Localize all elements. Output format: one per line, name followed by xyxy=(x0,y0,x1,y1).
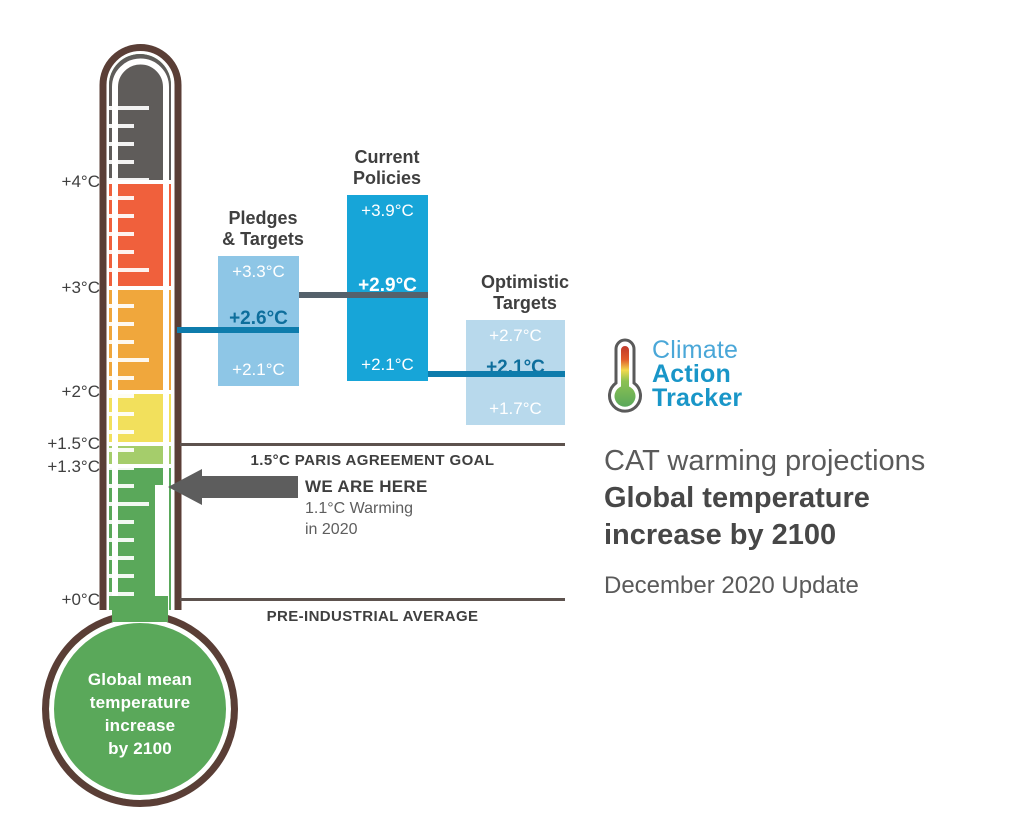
paris-goal-label: 1.5°C PARIS AGREEMENT GOAL xyxy=(180,452,565,469)
median-line-current-policies xyxy=(299,292,428,298)
axis-label-1-5: +1.5°C xyxy=(14,434,100,454)
bar-title-optimistic-line-2: Targets xyxy=(455,293,595,314)
title-line-2: increase by 2100 xyxy=(604,517,1004,554)
we-are-here-arrow-icon xyxy=(168,469,298,505)
pledges-high-label: +3.3°C xyxy=(218,262,299,282)
axis-label-4: +4°C xyxy=(14,172,100,192)
range-bar-current-policies[interactable]: +3.9°C +2.9°C +2.1°C xyxy=(347,195,428,381)
median-line-optimistic xyxy=(428,371,565,377)
pre-industrial-label: PRE-INDUSTRIAL AVERAGE xyxy=(180,608,565,625)
temperature-axis: +4°C +3°C +2°C +1.5°C +1.3°C +0°C xyxy=(0,0,100,838)
optimistic-low-label: +1.7°C xyxy=(466,399,565,419)
cat-logo[interactable]: Climate Action Tracker xyxy=(604,336,764,416)
current-policies-low-label: +2.1°C xyxy=(347,355,428,375)
title-block: CAT warming projections Global temperatu… xyxy=(604,443,1004,600)
bar-title-pledges: Pledges & Targets xyxy=(198,208,328,250)
we-are-here-sub-line-2: in 2020 xyxy=(305,519,413,540)
we-are-here-sub-line-1: 1.1°C Warming xyxy=(305,498,413,519)
bar-title-optimistic-line-1: Optimistic xyxy=(455,272,595,293)
bar-title-pledges-line-2: & Targets xyxy=(198,229,328,250)
bar-title-current-policies: Current Policies xyxy=(322,147,452,189)
we-are-here-subtitle: 1.1°C Warming in 2020 xyxy=(305,498,413,540)
bar-title-optimistic: Optimistic Targets xyxy=(455,272,595,314)
bar-title-pledges-line-1: Pledges xyxy=(198,208,328,229)
thermometer-icon xyxy=(604,336,646,416)
we-are-here-title: WE ARE HERE xyxy=(305,477,428,497)
median-line-pledges xyxy=(177,327,299,333)
bulb-neck xyxy=(112,596,168,622)
axis-label-3: +3°C xyxy=(14,278,100,298)
axis-label-0: +0°C xyxy=(14,590,100,610)
axis-label-2: +2°C xyxy=(14,382,100,402)
paris-goal-line xyxy=(180,443,565,446)
optimistic-high-label: +2.7°C xyxy=(466,326,565,346)
infographic-canvas: Global mean temperature increase by 2100… xyxy=(0,0,1024,838)
title-line-1: Global temperature xyxy=(604,480,1004,517)
bar-title-current-policies-line-1: Current xyxy=(322,147,452,168)
range-bar-pledges[interactable]: +3.3°C +2.6°C +2.1°C xyxy=(218,256,299,386)
bar-title-current-policies-line-2: Policies xyxy=(322,168,452,189)
headline: CAT warming projections xyxy=(604,443,1004,480)
pledges-low-label: +2.1°C xyxy=(218,360,299,380)
pre-industrial-line xyxy=(180,598,565,601)
logo-word-tracker: Tracker xyxy=(652,386,742,411)
subtitle: December 2020 Update xyxy=(604,572,1004,600)
current-policies-high-label: +3.9°C xyxy=(347,201,428,221)
axis-label-1-3: +1.3°C xyxy=(14,457,100,477)
